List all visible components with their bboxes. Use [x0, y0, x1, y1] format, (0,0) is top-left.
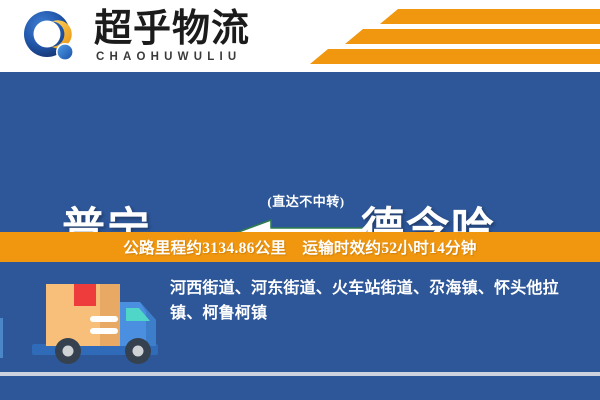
left-edge-accent: [0, 318, 3, 358]
direct-shipping-note: (直达不中转): [246, 191, 366, 210]
route-info-bar: 公路里程约3134.86公里 运输时效约52小时14分钟: [0, 232, 600, 262]
stripe-2: [345, 29, 600, 44]
stripe-3: [310, 49, 600, 64]
decorative-stripes: [270, 0, 600, 72]
duration-label: 运输时效约52小时14分钟: [302, 236, 476, 258]
road-line: [0, 372, 600, 376]
distance-label: 公路里程约3134.86公里: [123, 236, 286, 258]
brand-name-en: CHAOHUWULIU: [96, 51, 241, 63]
coverage-panel: 河西街道、河东街道、火车站街道、尕海镇、怀头他拉镇、柯鲁柯镇: [0, 262, 600, 400]
logistics-route-banner: 超乎物流 CHAOHUWULIU 普宁 (直达不中转) 【往返运输】 德令哈 公…: [0, 0, 600, 400]
brand-name-cn: 超乎物流: [94, 8, 250, 50]
stripe-1: [380, 9, 600, 24]
route-panel: 普宁 (直达不中转) 【往返运输】 德令哈: [0, 72, 600, 232]
company-logo-icon: [22, 9, 78, 65]
coverage-areas-text: 河西街道、河东街道、火车站街道、尕海镇、怀头他拉镇、柯鲁柯镇: [170, 276, 590, 326]
brand-header: 超乎物流 CHAOHUWULIU: [0, 0, 600, 72]
delivery-truck-icon: [28, 270, 163, 372]
